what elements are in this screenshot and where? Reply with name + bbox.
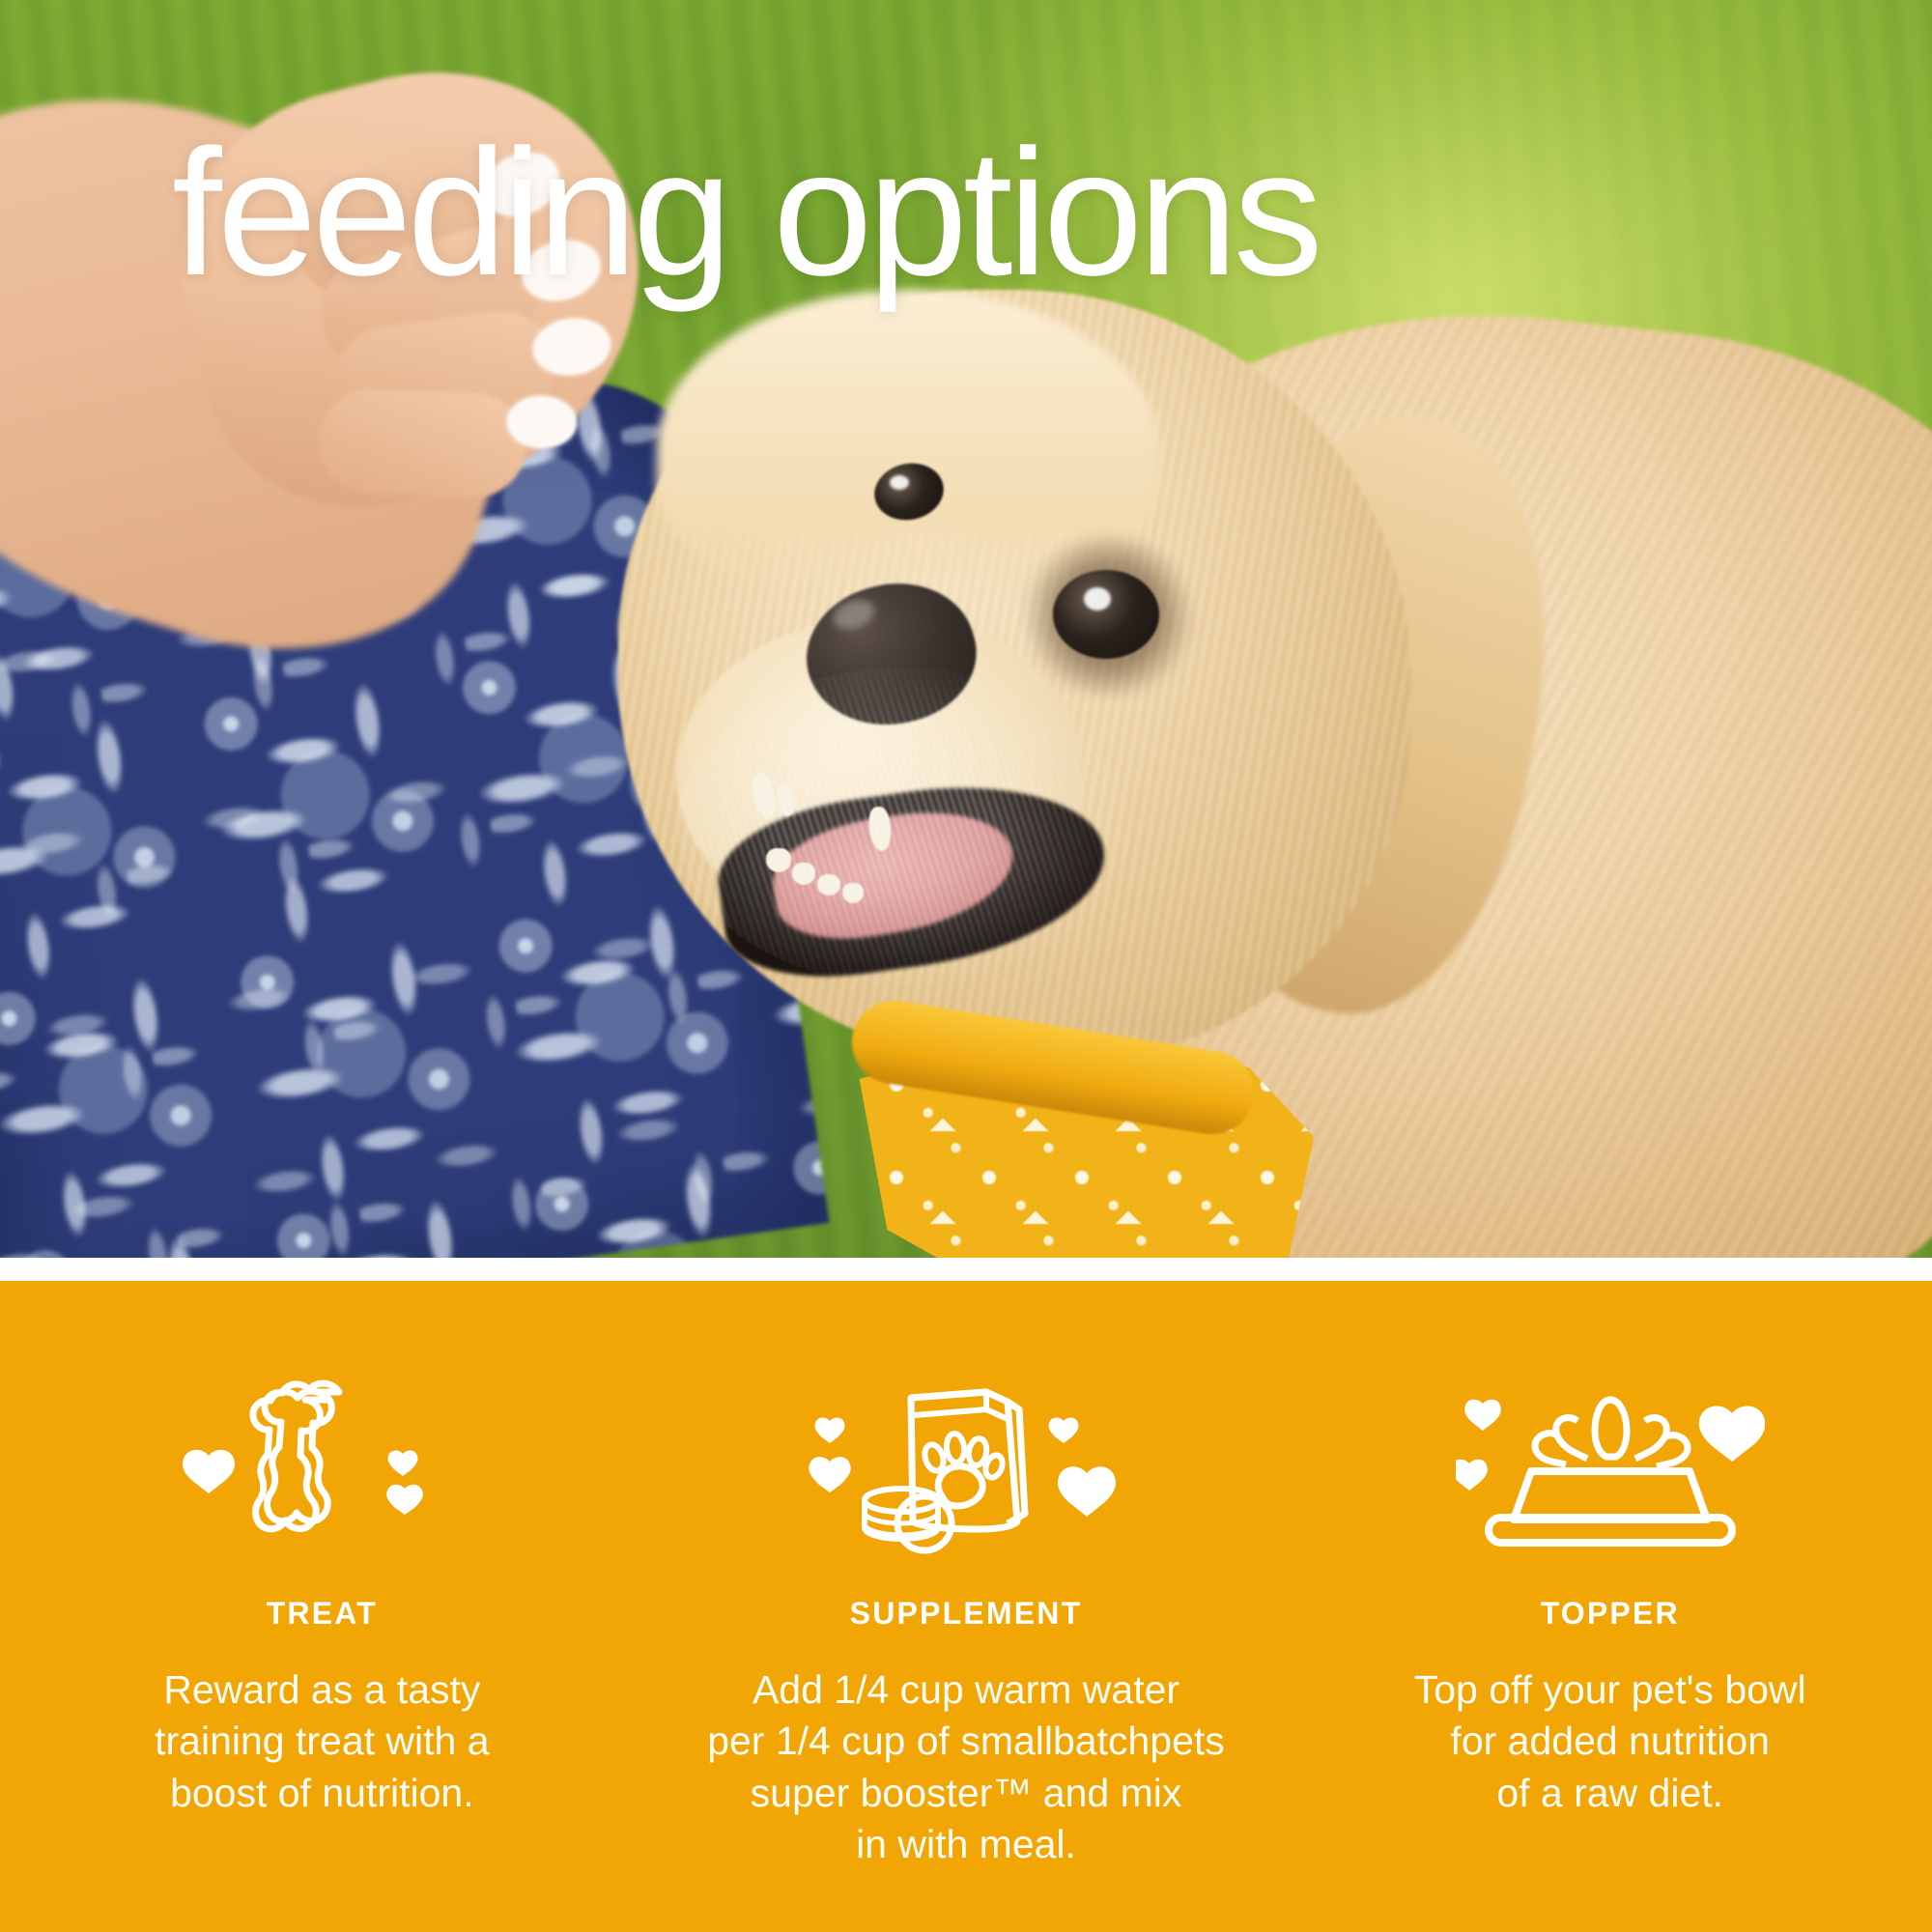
feeding-options-graphic: feeding options: [0, 0, 1932, 1932]
dog-eye-highlight: [890, 475, 909, 490]
option-title-topper: TOPPER: [1541, 1596, 1680, 1632]
options-columns: TREAT Reward as a tasty training treat w…: [0, 1281, 1932, 1932]
option-body-supplement: Add 1/4 cup warm water per 1/4 cup of sm…: [707, 1664, 1225, 1870]
dog-whiskers: [676, 667, 1130, 985]
option-title-treat: TREAT: [267, 1596, 378, 1632]
finger: [317, 387, 528, 498]
dog-bones-with-hearts-icon: [177, 1360, 467, 1563]
option-body-treat: Reward as a tasty training treat with a …: [155, 1664, 489, 1819]
option-column-topper: TOPPER Top off your pet's bowl for added…: [1288, 1281, 1932, 1932]
feeding-options-panel: TREAT Reward as a tasty training treat w…: [0, 1281, 1932, 1932]
option-title-supplement: SUPPLEMENT: [850, 1596, 1083, 1632]
page-title: feeding options: [172, 124, 1524, 303]
hero-photo: feeding options: [0, 0, 1932, 1258]
dog-eye-highlight: [1084, 587, 1111, 611]
option-body-topper: Top off your pet's bowl for added nutrit…: [1414, 1664, 1806, 1819]
page-title-bold: feeding: [172, 113, 727, 313]
page-title-thin: options: [727, 113, 1318, 313]
dog-eye-right: [1053, 570, 1159, 659]
food-bag-with-paw-and-hearts-icon: [807, 1360, 1125, 1563]
option-column-supplement: SUPPLEMENT Add 1/4 cup warm water per 1/…: [644, 1281, 1289, 1932]
option-column-treat: TREAT Reward as a tasty training treat w…: [0, 1281, 644, 1932]
food-bowl-with-hearts-icon: [1456, 1360, 1765, 1563]
